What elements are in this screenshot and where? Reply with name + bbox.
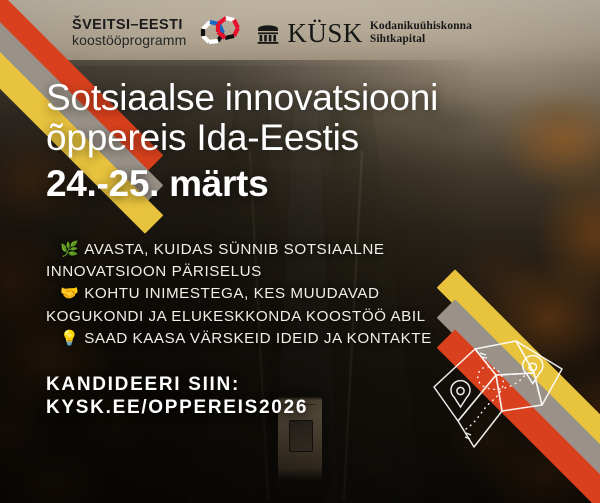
list-item: 🌿AVASTA, KUIDAS SÜNNIB SOTSIAALNE INNOVA… xyxy=(46,239,446,283)
lightbulb-icon: 💡 xyxy=(60,330,79,347)
kysk-subtitle-line1: Kodanikuühiskonna xyxy=(370,20,472,33)
list-item-text: KOHTU INIMESTEGA, KES MUUDAVAD KOGUKONDI… xyxy=(46,285,426,324)
handshake-icon: 🤝 xyxy=(60,285,79,302)
kysk-subtitle: Kodanikuühiskonna Sihtkapital xyxy=(370,20,472,47)
classical-building-icon xyxy=(256,22,280,44)
seedling-icon: 🌿 xyxy=(60,241,79,258)
folded-map-with-location-pins-graphic xyxy=(430,335,578,461)
title-line-1: Sotsiaalse innovatsiooni xyxy=(46,77,438,118)
sveitsi-eesti-logo: ŠVEITSI–EESTI koostööprogramm xyxy=(72,12,242,54)
list-item: 🤝KOHTU INIMESTEGA, KES MUUDAVAD KOGUKOND… xyxy=(46,283,446,327)
event-date: 24.-25. märts xyxy=(46,163,560,204)
list-item-text: AVASTA, KUIDAS SÜNNIB SOTSIAALNE INNOVAT… xyxy=(46,241,385,280)
event-poster: ŠVEITSI–EESTI koostööprogramm xyxy=(0,0,600,503)
list-item: 💡SAAD KAASA VÄRSKEID IDEID JA KONTAKTE xyxy=(46,328,446,350)
sveitsi-eesti-logo-line2: koostööprogramm xyxy=(72,33,186,48)
list-item-text: SAAD KAASA VÄRSKEID IDEID JA KONTAKTE xyxy=(84,330,432,347)
interlocking-hexagons-icon xyxy=(196,12,242,54)
sveitsi-eesti-logo-line1: ŠVEITSI–EESTI xyxy=(72,18,186,33)
logo-header: ŠVEITSI–EESTI koostööprogramm xyxy=(0,0,600,66)
sveitsi-eesti-logo-text: ŠVEITSI–EESTI koostööprogramm xyxy=(72,18,186,48)
page-title: Sotsiaalse innovatsiooni õppereis Ida-Ee… xyxy=(46,78,560,159)
title-line-2: õppereis Ida-Eestis xyxy=(46,117,359,158)
kysk-logo: KÜSK Kodanikuühiskonna Sihtkapital xyxy=(256,20,472,47)
benefit-list: 🌿AVASTA, KUIDAS SÜNNIB SOTSIAALNE INNOVA… xyxy=(46,239,560,350)
kysk-subtitle-line2: Sihtkapital xyxy=(370,33,472,46)
kysk-wordmark: KÜSK xyxy=(287,20,363,47)
